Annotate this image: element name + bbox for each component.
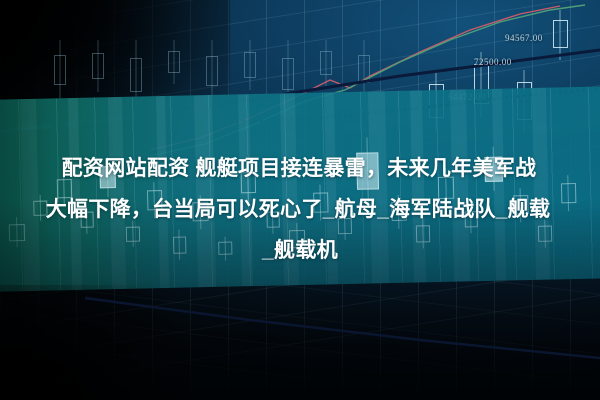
banner-image: 94567.0072500.0064472.0067896.0056721.00… <box>0 0 600 400</box>
page-title: 配资网站配资 舰艇项目接连暴雷，未来几年美军战 大幅下降，台当局可以死心了_航母… <box>0 148 600 271</box>
trend-line <box>85 298 600 358</box>
headline-line-2: 大幅下降，台当局可以死心了_航母_海军陆战队_舰载 <box>0 189 600 230</box>
headline-line-1: 配资网站配资 舰艇项目接连暴雷，未来几年美军战 <box>0 148 600 189</box>
headline-line-3: _舰载机 <box>0 230 600 271</box>
